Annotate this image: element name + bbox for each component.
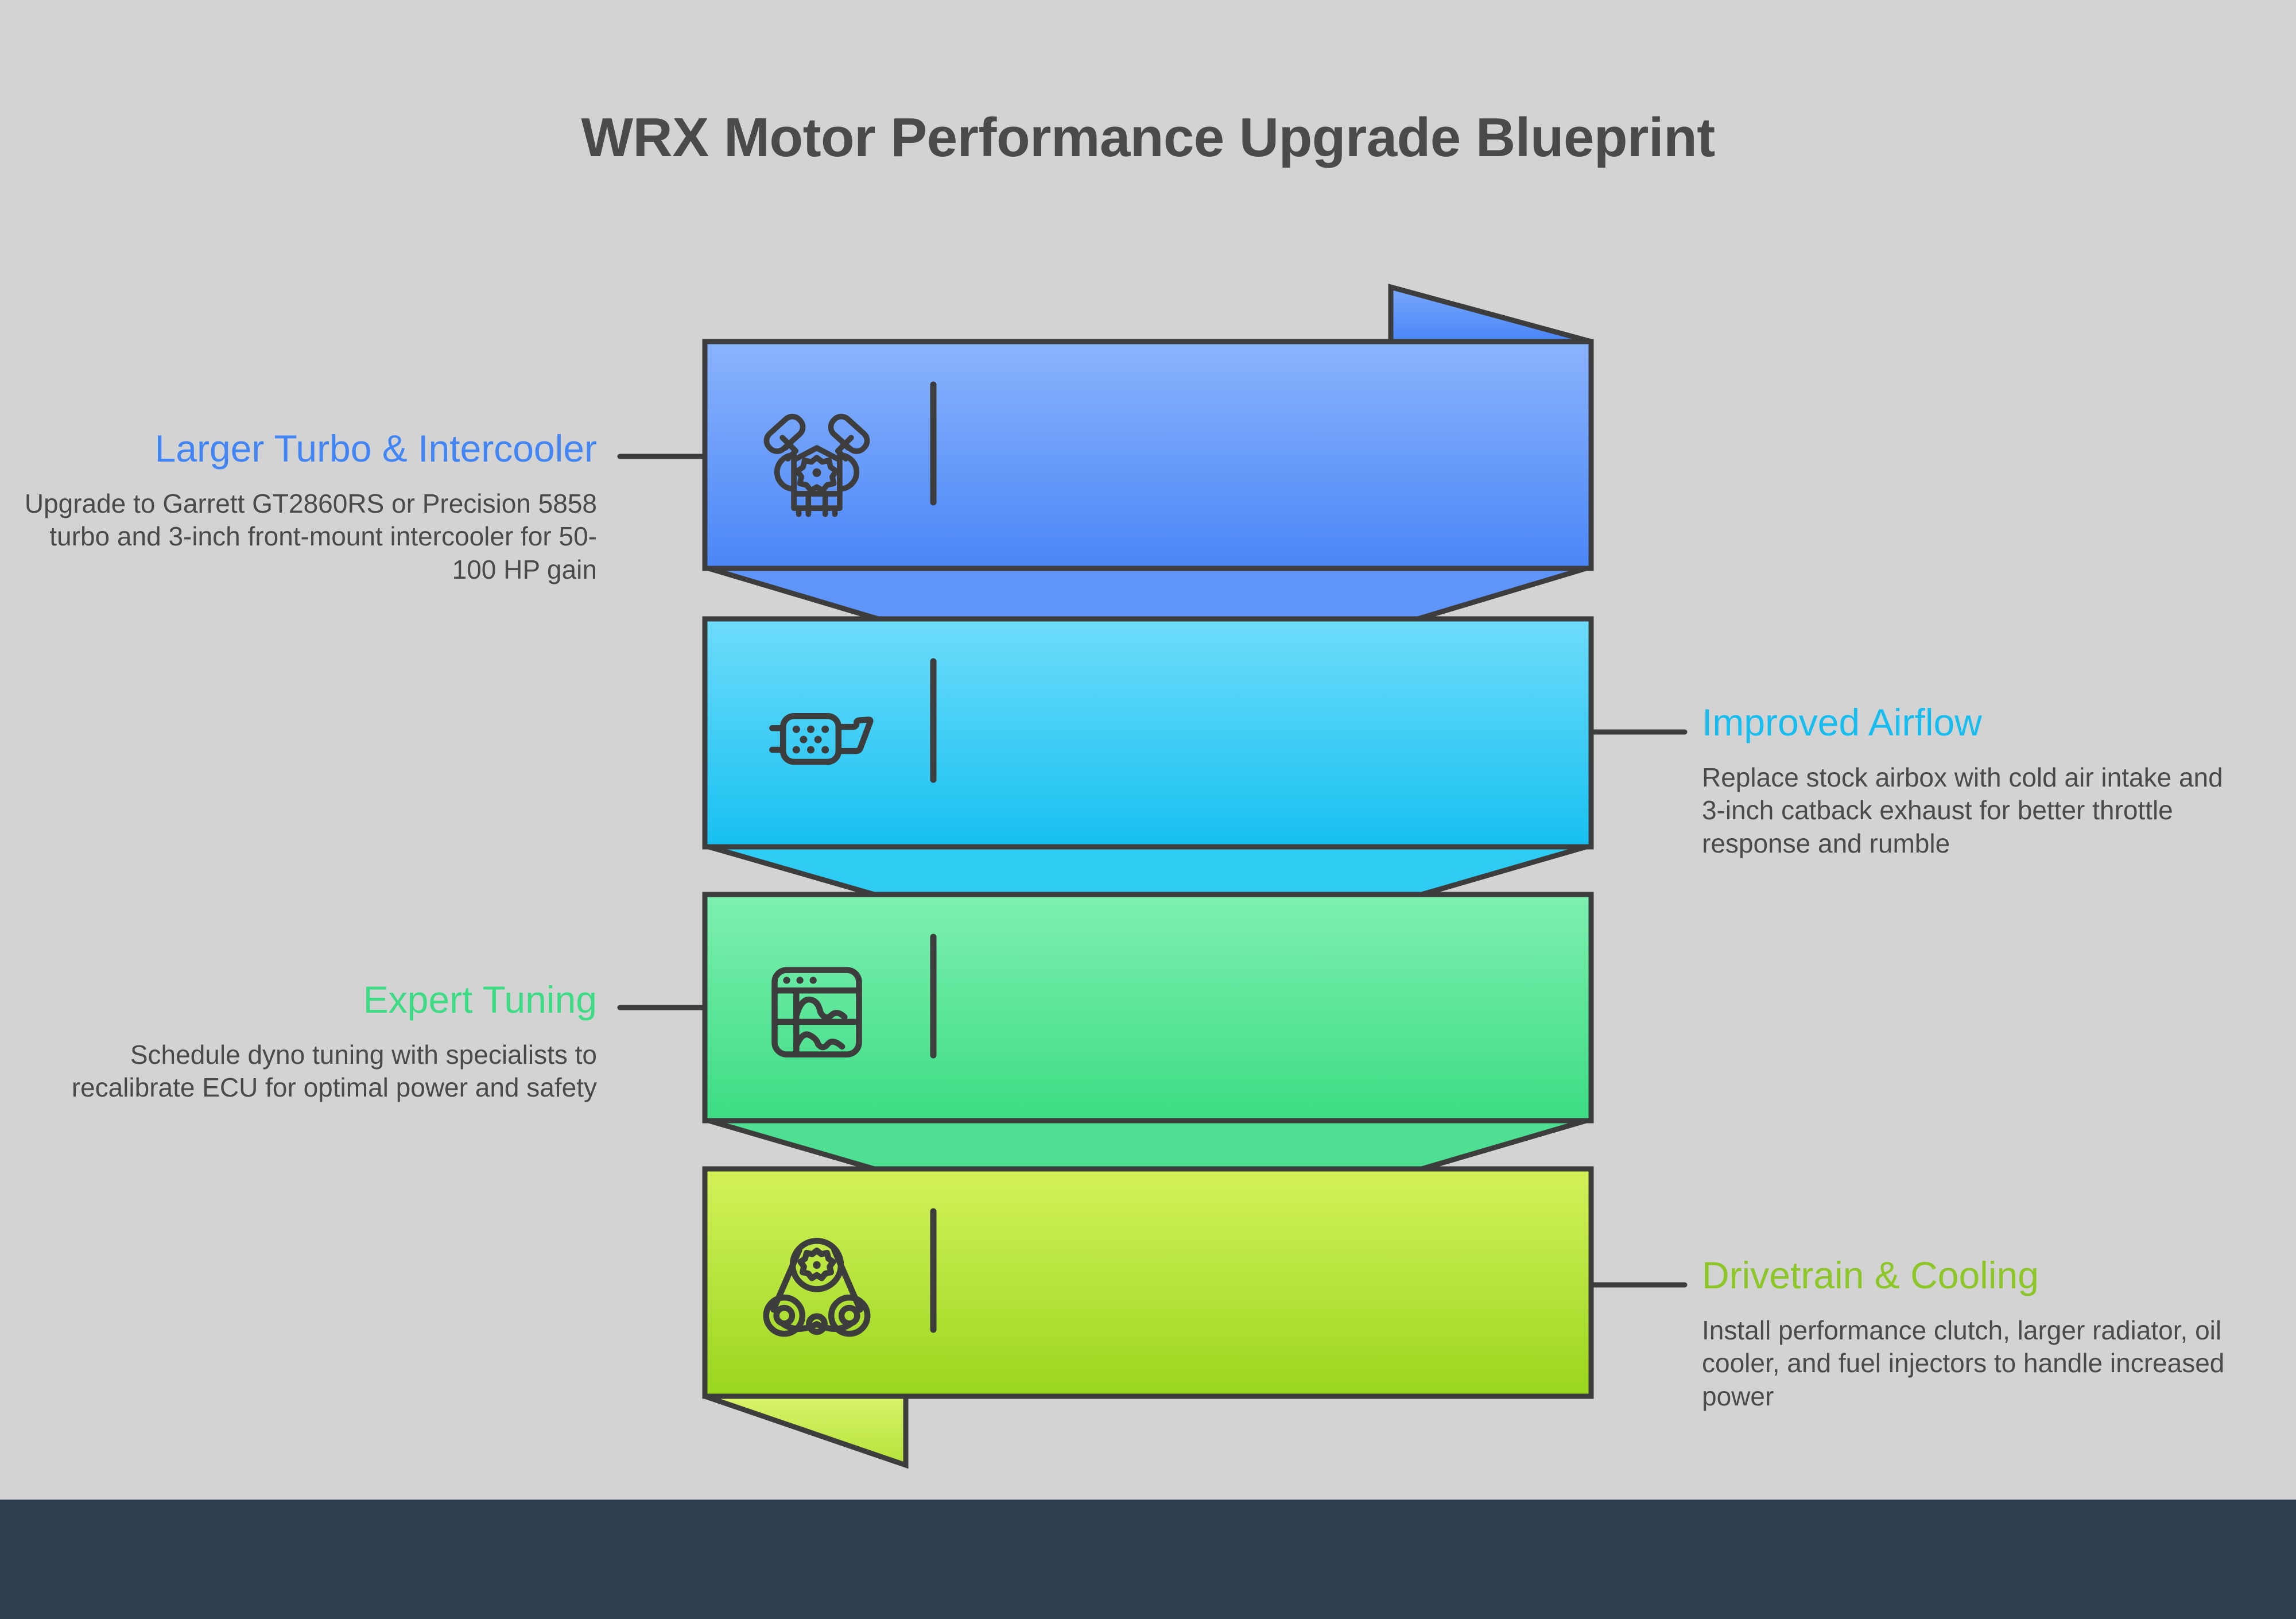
- step-1-title: Larger Turbo & Intercooler: [20, 428, 597, 470]
- infographic-canvas: WRX Motor Performance Upgrade Blueprint: [0, 0, 2296, 1619]
- step-2-text-block: Improved Airflow Replace stock airbox wi…: [1702, 702, 2236, 860]
- step-3-text-block: Expert Tuning Schedule dyno tuning with …: [20, 979, 597, 1105]
- footer-bar: [0, 1500, 2296, 1619]
- ribbon-top-fold: [1391, 287, 1591, 342]
- ribbon-bottom-tail: [705, 1396, 906, 1465]
- step-2-title: Improved Airflow: [1702, 702, 2236, 744]
- belt-pulley-icon: [757, 1224, 877, 1345]
- dyno-tuning-window-icon: [757, 951, 877, 1071]
- exhaust-muffler-icon: [757, 677, 877, 798]
- ribbon-fold-1-visible: [705, 567, 1590, 619]
- step-4-title: Drivetrain & Cooling: [1702, 1254, 2236, 1297]
- step-1-description: Upgrade to Garrett GT2860RS or Precision…: [20, 487, 597, 587]
- step-2-description: Replace stock airbox with cold air intak…: [1702, 761, 2236, 861]
- step-3-description: Schedule dyno tuning with specialists to…: [20, 1039, 597, 1105]
- turbo-engine-icon: [757, 397, 877, 518]
- ribbon-fold-3-visible: [705, 1120, 1590, 1170]
- ribbon-fold-2-visible: [705, 846, 1590, 896]
- step-4-description: Install performance clutch, larger radia…: [1702, 1314, 2236, 1413]
- step-3-title: Expert Tuning: [20, 979, 597, 1021]
- step-1-text-block: Larger Turbo & Intercooler Upgrade to Ga…: [20, 428, 597, 586]
- step-4-text-block: Drivetrain & Cooling Install performance…: [1702, 1254, 2236, 1413]
